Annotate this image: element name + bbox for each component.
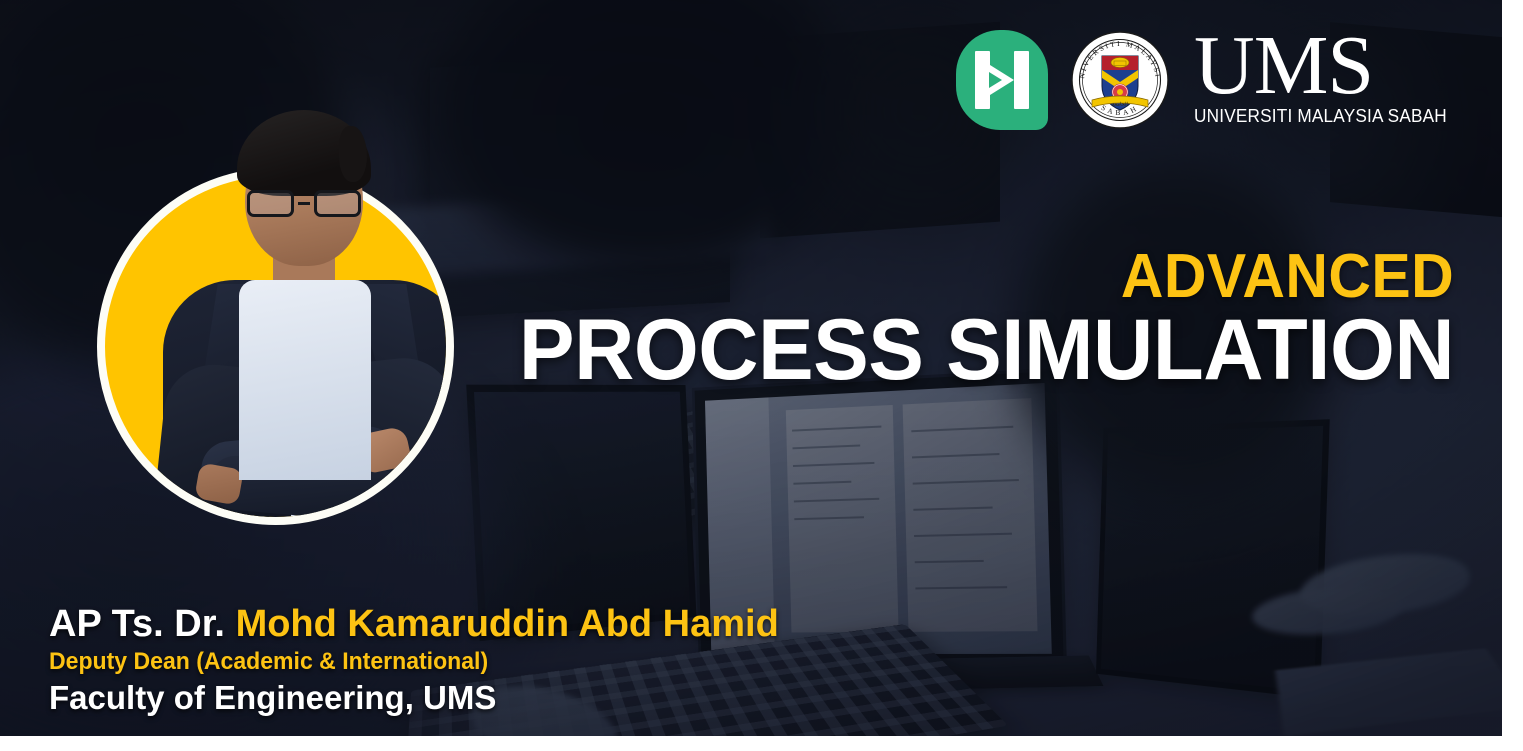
- speaker-title-prefix: AP Ts. Dr.: [49, 603, 236, 645]
- svg-text:الجامعة: الجامعة: [1112, 101, 1128, 107]
- portrait-shirt-collar: [239, 280, 371, 480]
- glasses-icon: [247, 190, 361, 217]
- glasses-lens-right: [314, 190, 361, 217]
- ums-wordmark: UMS UNIVERSITI MALAYSIA SABAH: [1194, 33, 1466, 128]
- speaker-faculty: Faculty of Engineering, UMS: [49, 677, 779, 718]
- speaker-info: AP Ts. Dr. Mohd Kamaruddin Abd Hamid Dep…: [49, 602, 779, 718]
- speaker-name: Mohd Kamaruddin Abd Hamid: [236, 603, 779, 645]
- h-logo-right-bar: [1014, 51, 1029, 109]
- speaker-role: Deputy Dean (Academic & International): [49, 647, 750, 677]
- headline-block: ADVANCED PROCESS SIMULATION: [490, 248, 1454, 393]
- ums-wordmark-secondary: UNIVERSITI MALAYSIA SABAH: [1194, 105, 1447, 127]
- h-brand-logo[interactable]: [956, 30, 1048, 130]
- ums-crest[interactable]: UNIVERSITI MALAYSIA SABAH الجامعة: [1070, 30, 1170, 130]
- headline-title: PROCESS SIMULATION: [519, 307, 1454, 393]
- ums-wordmark-primary: UMS: [1194, 33, 1373, 99]
- play-triangle-icon: [990, 65, 1014, 95]
- presentation-banner: UNIVERSITI MALAYSIA SABAH الجامعة: [0, 0, 1502, 736]
- glasses-lens-left: [247, 190, 294, 217]
- logo-lockup: UNIVERSITI MALAYSIA SABAH الجامعة: [956, 30, 1466, 130]
- h-logo-left-bar: [975, 51, 990, 109]
- speaker-portrait: [97, 168, 454, 525]
- headline-kicker: ADVANCED: [538, 248, 1454, 305]
- glasses-bridge: [298, 202, 310, 206]
- speaker-name-line: AP Ts. Dr. Mohd Kamaruddin Abd Hamid: [49, 602, 779, 647]
